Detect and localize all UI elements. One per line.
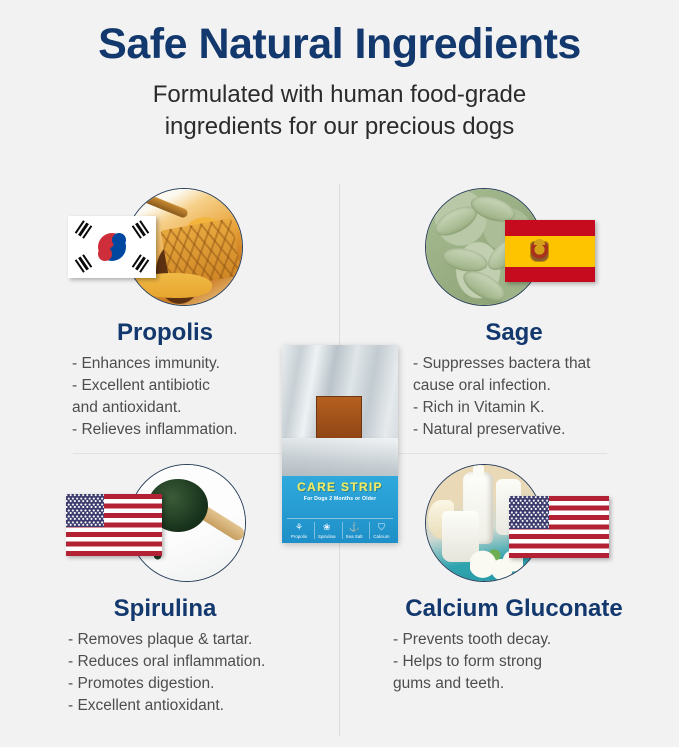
product-package-image: CARE STRIP For Dogs 2 Months or Older ⚘ … — [282, 345, 398, 543]
propolis-media — [0, 186, 330, 312]
trigram-icon — [132, 220, 150, 239]
calcium-media — [349, 462, 679, 588]
usa-flag — [509, 496, 609, 558]
calcium-icon: ⛉ — [370, 522, 393, 533]
spain-coat-of-arms-icon — [531, 242, 548, 261]
ingredient-card-calcium-gluconate: Calcium Gluconate - Prevents tooth decay… — [349, 462, 679, 737]
sea-salt-icon: ⚓ — [343, 522, 366, 533]
care-strip-product — [316, 396, 362, 442]
package-icon-label: Spirulina — [315, 534, 338, 539]
ingredient-card-spirulina: Spirulina - Removes plaque & tartar. - R… — [0, 462, 330, 737]
spirulina-icon: ❀ — [315, 522, 338, 533]
honey-dipper-icon — [140, 192, 189, 219]
infographic-page: Safe Natural Ingredients Formulated with… — [0, 0, 679, 747]
ingredient-benefits-propolis: - Enhances immunity. - Excellent antibio… — [0, 353, 330, 441]
ingredient-name-calcium-gluconate: Calcium Gluconate — [349, 596, 679, 622]
stars-icon — [509, 496, 549, 529]
sage-media — [349, 186, 679, 312]
sage-leaf-shape — [458, 265, 509, 306]
package-icon-label: Calcium — [370, 534, 393, 539]
page-title: Safe Natural Ingredients — [0, 22, 679, 67]
package-label: CARE STRIP For Dogs 2 Months or Older ⚘ … — [282, 476, 398, 543]
ingredient-benefits-sage: - Suppresses bactera that cause oral inf… — [349, 353, 679, 441]
ingredient-name-propolis: Propolis — [0, 320, 330, 346]
ingredient-card-propolis: Propolis - Enhances immunity. - Excellen… — [0, 186, 330, 448]
package-icon-sea-salt: ⚓ Sea Salt — [342, 522, 366, 539]
package-icon-row: ⚘ Propolis ❀ Spirulina ⚓ Sea Salt ⛉ Calc… — [287, 518, 393, 539]
package-icon-label: Propolis — [287, 534, 311, 539]
usa-flag — [66, 494, 162, 556]
spirulina-media — [0, 462, 330, 588]
package-icon-label: Sea Salt — [343, 534, 366, 539]
ingredient-benefits-spirulina: - Removes plaque & tartar. - Reduces ora… — [0, 629, 330, 717]
package-icon-propolis: ⚘ Propolis — [287, 522, 311, 539]
ingredient-benefits-calcium-gluconate: - Prevents tooth decay. - Helps to form … — [349, 629, 679, 695]
stars-icon — [66, 494, 104, 527]
propolis-icon: ⚘ — [287, 522, 311, 533]
page-subtitle: Formulated with human food-grade ingredi… — [0, 79, 679, 142]
spain-flag — [505, 220, 595, 282]
ingredient-name-spirulina: Spirulina — [0, 596, 330, 622]
ingredient-name-sage: Sage — [349, 320, 679, 346]
package-icon-calcium: ⛉ Calcium — [369, 522, 393, 539]
package-tagline: For Dogs 2 Months or Older — [282, 496, 398, 502]
taeguk-icon — [98, 233, 126, 261]
package-icon-spirulina: ❀ Spirulina — [314, 522, 338, 539]
ingredient-card-sage: Sage - Suppresses bactera that cause ora… — [349, 186, 679, 448]
trigram-icon — [75, 254, 93, 273]
header-block: Safe Natural Ingredients Formulated with… — [0, 0, 679, 142]
south-korea-flag — [68, 216, 156, 278]
package-brand-name: CARE STRIP — [282, 480, 398, 494]
trigram-icon — [75, 220, 93, 239]
trigram-icon — [132, 254, 150, 273]
